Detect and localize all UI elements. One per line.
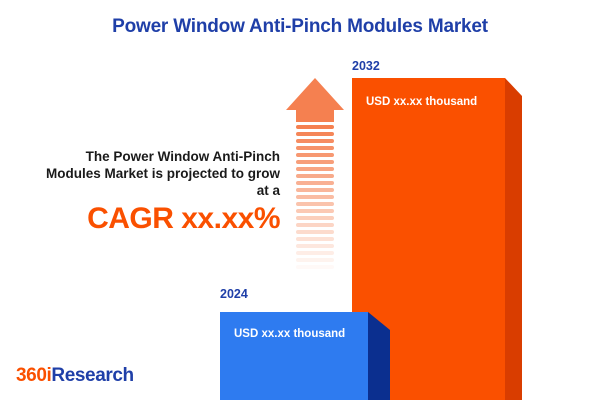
arrow-stripe: [296, 216, 334, 220]
arrow-stripe: [296, 195, 334, 199]
arrow-stripe: [296, 125, 334, 129]
infographic-canvas: Power Window Anti-Pinch Modules Market T…: [0, 0, 600, 400]
market-statement-text: The Power Window Anti-Pinch Modules Mark…: [40, 148, 280, 199]
cagr-value: CAGR xx.xx%: [40, 202, 280, 236]
growth-arrow: [286, 78, 344, 290]
arrow-stripe: [296, 237, 334, 241]
bar-2024-year-label: 2024: [220, 287, 248, 301]
brand-logo-suffix: Research: [51, 365, 133, 386]
bar-2024-value-label: USD xx.xx thousand: [234, 328, 345, 340]
arrow-up-icon: [286, 78, 344, 110]
arrow-stripe: [296, 160, 334, 164]
arrow-stripe: [296, 167, 334, 171]
arrow-neck: [296, 110, 334, 122]
arrow-stripe: [296, 230, 334, 234]
page-title: Power Window Anti-Pinch Modules Market: [0, 16, 600, 38]
arrow-stripe: [296, 153, 334, 157]
arrow-stripe: [296, 202, 334, 206]
bar-2032-side-face: [505, 78, 522, 400]
bar-2032-value-label: USD xx.xx thousand: [366, 96, 477, 108]
arrow-stripes: [296, 125, 334, 285]
arrow-stripe: [296, 146, 334, 150]
arrow-stripe: [296, 244, 334, 248]
arrow-stripe: [296, 272, 334, 276]
arrow-stripe: [296, 132, 334, 136]
arrow-stripe: [296, 209, 334, 213]
arrow-stripe: [296, 258, 334, 262]
brand-logo-prefix: 360i: [16, 365, 51, 386]
arrow-stripe: [296, 139, 334, 143]
arrow-stripe: [296, 181, 334, 185]
brand-logo: 360iResearch: [16, 365, 134, 387]
bar-2024: [220, 312, 368, 400]
arrow-stripe: [296, 265, 334, 269]
arrow-stripe: [296, 223, 334, 227]
arrow-stripe: [296, 174, 334, 178]
arrow-stripe: [296, 251, 334, 255]
arrow-stripe: [296, 188, 334, 192]
bar-2032-year-label: 2032: [352, 59, 380, 73]
